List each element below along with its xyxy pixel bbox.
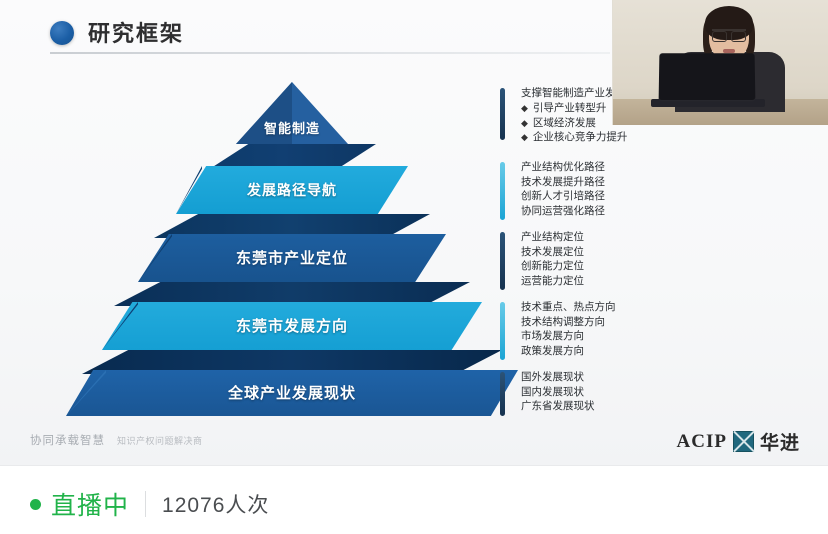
annotation-item: 政策发展方向 <box>521 344 765 359</box>
diamond-x-icon <box>733 431 754 452</box>
annotation-item: 技术发展提升路径 <box>521 175 765 190</box>
annotation-accent-bar <box>500 232 505 290</box>
slide-footer: 协同承载智慧 知识产权问题解决商 <box>30 432 203 448</box>
viewer-count: 12076人次 <box>162 489 269 519</box>
logo-chinese-name: 华进 <box>760 428 800 455</box>
annotation-list: 支撑智能制造产业发 引导产业转型升 区域经济发展 企业核心竞争力提升 产业结构优… <box>495 86 765 428</box>
presenter-video[interactable] <box>612 0 828 125</box>
annotation-item: 产业结构定位 <box>521 230 765 245</box>
annotation-block-5: 国外发展现状 国内发展现状 广东省发展现状 <box>495 370 765 420</box>
player-controls: 直播中 12076人次 倍速 <box>0 466 828 534</box>
annotation-accent-bar <box>500 88 505 140</box>
pyramid-layer-1-label: 智能制造 <box>92 118 492 137</box>
annotation-item: 产业结构优化路径 <box>521 160 765 175</box>
annotation-item: 技术重点、热点方向 <box>521 300 765 315</box>
pyramid-layer-5: 全球产业发展现状 <box>92 370 492 416</box>
pyramid-layer-3: 东莞市产业定位 <box>92 234 492 282</box>
annotation-item: 创新人才引培路径 <box>521 189 765 204</box>
annotation-accent-bar <box>500 302 505 360</box>
header-divider <box>50 52 610 54</box>
annotation-item: 国外发展现状 <box>521 370 765 385</box>
annotation-item: 技术发展定位 <box>521 245 765 260</box>
company-logo: ACIP 华进 <box>677 428 800 455</box>
annotation-item: 协同运营强化路径 <box>521 204 765 219</box>
annotation-item: 技术结构调整方向 <box>521 315 765 330</box>
live-status-group: 直播中 12076人次 <box>30 486 269 522</box>
slide-header: 研究框架 <box>28 8 588 52</box>
glasses-icon <box>712 29 746 38</box>
pyramid-layer-5-label: 全球产业发展现状 <box>92 382 492 403</box>
annotation-block-4: 技术重点、热点方向 技术结构调整方向 市场发展方向 政策发展方向 <box>495 300 765 362</box>
pyramid-layer-2: 发展路径导航 <box>92 166 492 214</box>
logo-wordmark: ACIP <box>677 431 727 453</box>
live-player: 研究框架 智能制造 发展路径导航 东莞市产业定位 <box>0 0 828 534</box>
annotation-block-2: 产业结构优化路径 技术发展提升路径 创新人才引培路径 协同运营强化路径 <box>495 160 765 222</box>
pyramid-layer-4-label: 东莞市发展方向 <box>92 315 492 336</box>
annotation-item: 运营能力定位 <box>521 274 765 289</box>
status-separator <box>145 491 146 517</box>
page-title: 研究框架 <box>88 16 184 48</box>
footer-subtitle: 知识产权问题解决商 <box>117 434 203 447</box>
pyramid-layer-4: 东莞市发展方向 <box>92 302 492 350</box>
annotation-accent-bar <box>500 372 505 416</box>
annotation-item: 市场发展方向 <box>521 329 765 344</box>
footer-slogan: 协同承载智慧 <box>30 432 105 448</box>
live-dot-icon <box>30 499 41 510</box>
annotation-item: 国内发展现状 <box>521 385 765 400</box>
annotation-item: 广东省发展现状 <box>521 399 765 414</box>
pyramid-layer-3-label: 东莞市产业定位 <box>92 247 492 268</box>
annotation-block-3: 产业结构定位 技术发展定位 创新能力定位 运营能力定位 <box>495 230 765 292</box>
annotation-item: 企业核心竞争力提升 <box>521 130 765 145</box>
annotation-accent-bar <box>500 162 505 220</box>
annotation-item: 创新能力定位 <box>521 259 765 274</box>
pyramid-layer-1: 智能制造 <box>92 82 492 144</box>
laptop-screen <box>659 53 756 101</box>
status-badge: 直播中 <box>51 486 129 522</box>
pyramid-diagram: 智能制造 发展路径导航 东莞市产业定位 东莞市发展方向 <box>92 82 492 412</box>
bullet-dot-icon <box>50 21 74 45</box>
pyramid-layer-2-label: 发展路径导航 <box>92 180 492 200</box>
